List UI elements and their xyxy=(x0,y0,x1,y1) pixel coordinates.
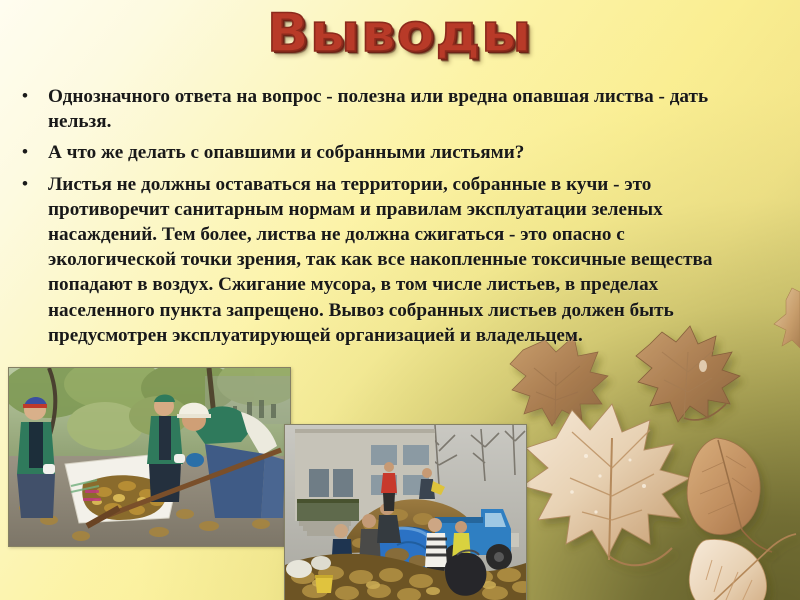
birch-leaf-icon xyxy=(689,534,796,600)
list-item: А что же делать с опавшими и собранными … xyxy=(16,140,728,165)
slide-title-container: Выводы xyxy=(0,4,800,63)
slide-root: Выводы Однозначного ответа на вопрос - п… xyxy=(0,0,800,600)
slide-body: Однозначного ответа на вопрос - полезна … xyxy=(16,84,728,354)
photo-loading-leaves-truck xyxy=(284,424,527,600)
bullet-list: Однозначного ответа на вопрос - полезна … xyxy=(16,84,728,348)
list-item: Однозначного ответа на вопрос - полезна … xyxy=(16,84,728,134)
maple-leaf-large-icon xyxy=(522,404,690,565)
page-title: Выводы xyxy=(267,4,532,63)
list-item: Листья не должны оставаться на территори… xyxy=(16,172,728,348)
photo-workers-raking-leaves xyxy=(8,367,291,547)
oval-leaf-icon xyxy=(687,438,772,552)
maple-leaf-mid-icon xyxy=(774,288,800,348)
